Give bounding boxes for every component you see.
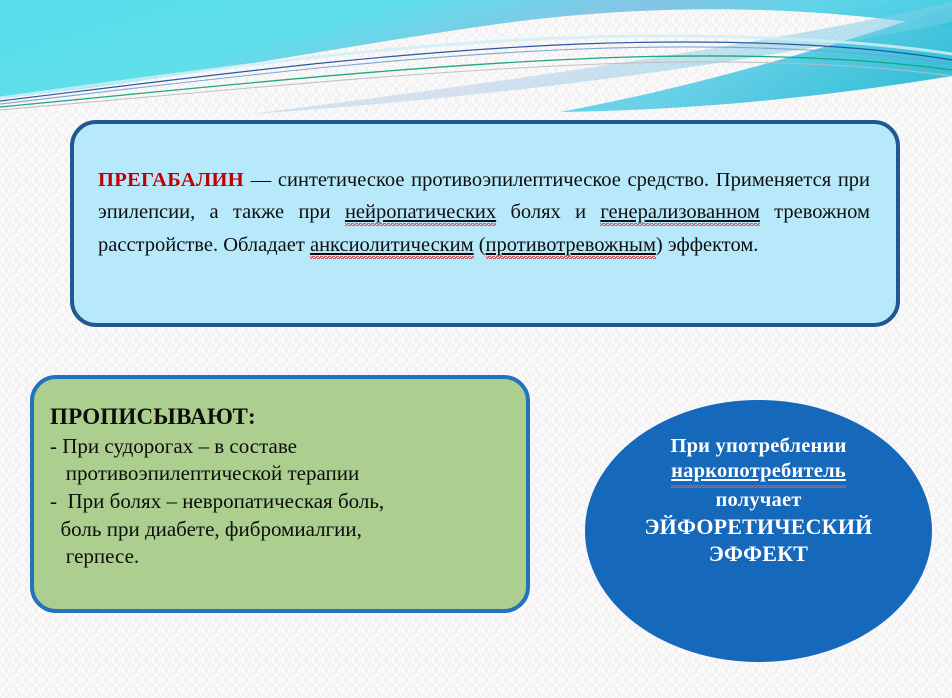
prescribe-line: боль при диабете, фибромиалгии, bbox=[50, 516, 512, 544]
prescribe-line: - При болях – невропатическая боль, bbox=[50, 488, 512, 516]
prescribe-line: герпесе. bbox=[50, 543, 512, 571]
description-underlined-1: нейропатических bbox=[345, 201, 496, 226]
ellipse-line-1: При употреблении bbox=[670, 434, 846, 459]
prescribe-line: - При судорогах – в составе bbox=[50, 433, 512, 461]
description-underlined-3: анксиолитическим bbox=[310, 234, 474, 259]
description-part-4: ( bbox=[474, 234, 486, 256]
euphoria-effect-ellipse: При употреблении наркопотребитель получа… bbox=[585, 400, 932, 662]
ellipse-line-5: ЭФФЕКТ bbox=[709, 540, 808, 567]
description-text: ПРЕГАБАЛИН — синтетическое противоэпилеп… bbox=[98, 164, 870, 261]
header-wave-decoration bbox=[0, 0, 952, 120]
description-part-2: болях и bbox=[496, 201, 600, 223]
prescribe-line: противоэпилептической терапии bbox=[50, 460, 512, 488]
ellipse-line-2: наркопотребитель bbox=[671, 459, 846, 487]
presentation-slide: ПРЕГАБАЛИН — синтетическое противоэпилеп… bbox=[0, 0, 952, 698]
drug-name-label: ПРЕГАБАЛИН bbox=[98, 169, 244, 191]
prescription-indications-box: ПРОПИСЫВАЮТ: - При судорогах – в составе… bbox=[30, 375, 530, 613]
ellipse-line-3: получает bbox=[715, 488, 801, 513]
em-dash: — bbox=[244, 169, 278, 191]
header-wave-svg bbox=[0, 0, 952, 120]
prescribe-heading: ПРОПИСЫВАЮТ: bbox=[50, 403, 512, 431]
prescription-description-box: ПРЕГАБАЛИН — синтетическое противоэпилеп… bbox=[70, 120, 900, 327]
description-underlined-4: противотревожным bbox=[486, 234, 656, 259]
description-underlined-2: генерализованном bbox=[600, 201, 760, 226]
description-part-5: ) эффектом. bbox=[656, 234, 759, 256]
ellipse-line-4: ЭЙФОРЕТИЧЕСКИЙ bbox=[645, 513, 873, 540]
